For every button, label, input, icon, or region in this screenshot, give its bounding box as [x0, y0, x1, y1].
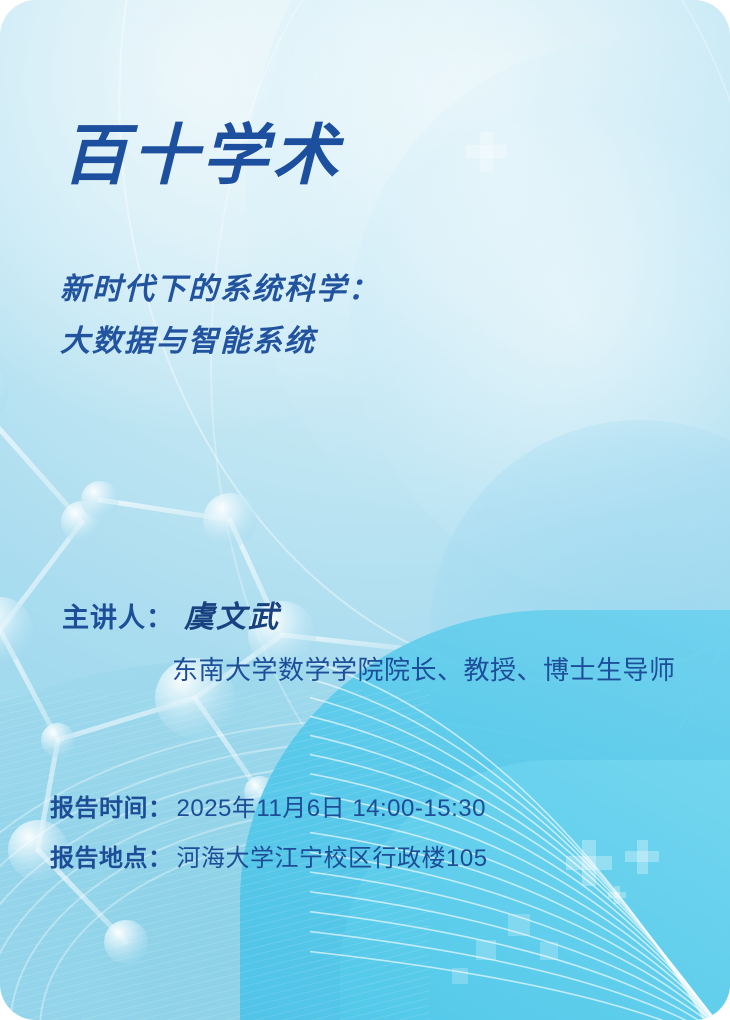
- detail-row-time: 报告时间：2025年11月6日 14:00-15:30: [50, 788, 486, 823]
- poster-content: 百十学术 新时代下的系统科学： 大数据与智能系统 主讲人： 虞文武 东南大学数学…: [0, 0, 730, 1020]
- speaker-affiliation: 东南大学数学学院院长、教授、博士生导师: [172, 650, 676, 687]
- poster-subtitle: 新时代下的系统科学： 大数据与智能系统: [60, 264, 380, 368]
- time-value: 2025年11月6日 14:00-15:30: [177, 795, 486, 822]
- speaker-row: 主讲人： 虞文武: [62, 592, 280, 636]
- speaker-label: 主讲人：: [62, 596, 174, 635]
- speaker-name: 虞文武: [184, 592, 280, 636]
- location-value: 河海大学江宁校区行政楼105: [177, 845, 488, 872]
- location-label: 报告地点：: [50, 845, 173, 872]
- subtitle-line-2: 大数据与智能系统: [60, 316, 380, 368]
- subtitle-line-1: 新时代下的系统科学：: [60, 264, 380, 316]
- poster-main-title: 百十学术: [62, 122, 342, 188]
- seminar-poster: 百十学术 新时代下的系统科学： 大数据与智能系统 主讲人： 虞文武 东南大学数学…: [0, 0, 730, 1020]
- time-label: 报告时间：: [50, 795, 173, 822]
- detail-row-location: 报告地点：河海大学江宁校区行政楼105: [50, 838, 488, 873]
